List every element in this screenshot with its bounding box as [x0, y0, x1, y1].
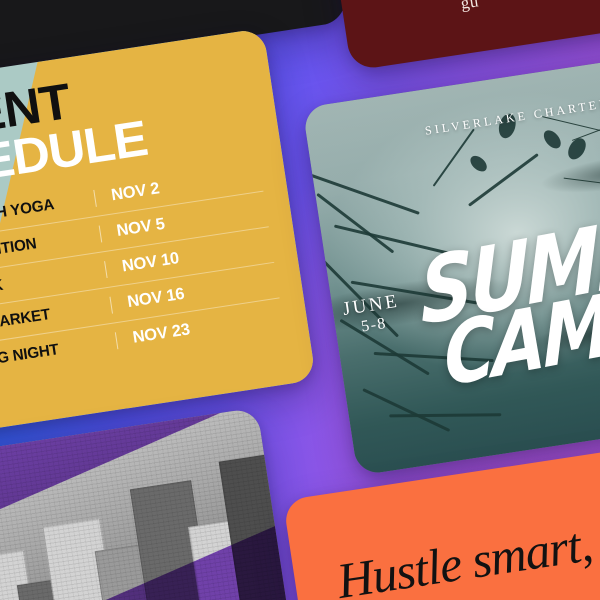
schedule-divider — [99, 225, 103, 242]
schedule-divider — [115, 332, 119, 349]
schedule-divider — [93, 190, 97, 207]
schedule-divider — [104, 261, 108, 278]
schedule-event-date: NOV 5 — [115, 215, 166, 241]
schedule-content: EVENT SCHEDULE SUNRISE BEACH YOGA NOV 2 … — [0, 28, 316, 444]
schedule-divider — [109, 297, 113, 314]
schedule-list: SUNRISE BEACH YOGA NOV 2 ENERGY NUTRITIO… — [0, 156, 285, 390]
schedule-event-name: NETWORKING NIGHT — [0, 333, 111, 382]
schedule-event-date: NOV 16 — [126, 285, 186, 312]
event-schedule-card[interactable]: EVENT SCHEDULE SUNRISE BEACH YOGA NOV 2 … — [0, 28, 316, 444]
schedule-event-date: NOV 2 — [110, 179, 161, 205]
schedule-event-date: NOV 10 — [121, 249, 181, 276]
maroon-card-clipped-text: gu — [459, 0, 480, 14]
canvas-stage: gu EVENT SCHEDULE SUNRISE BEACH YOGA NOV… — [0, 0, 600, 600]
hustle-quote-text: Hustle smart, Chase — [334, 517, 600, 600]
schedule-event-date: NOV 23 — [132, 320, 192, 347]
